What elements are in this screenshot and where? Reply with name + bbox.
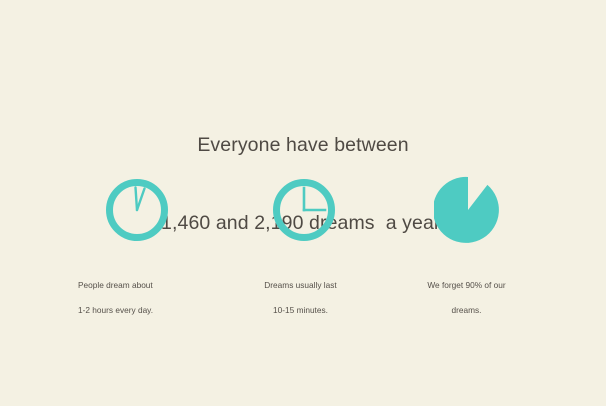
pie-chart-icon-ninety-percent <box>384 170 549 248</box>
stat-caption-line-2: 1-2 hours every day. <box>78 305 153 315</box>
stat-caption-hours-per-day: People dream about 1-2 hours every day. <box>78 266 217 316</box>
stat-item-forgotten-dreams: We forget 90% of our dreams. <box>384 170 549 310</box>
page-title-line-1: Everyone have between <box>0 132 606 158</box>
stat-caption-line-2: dreams. <box>452 305 482 315</box>
clock-icon-one-two-oclock <box>52 170 217 248</box>
stats-row: People dream about 1-2 hours every day. … <box>0 170 606 310</box>
stat-caption-line-2: 10-15 minutes. <box>273 305 328 315</box>
stat-item-dream-duration: Dreams usually last 10-15 minutes. <box>218 170 383 310</box>
stat-caption-forgotten-dreams: We forget 90% of our dreams. <box>384 266 549 316</box>
stat-caption-line-1: We forget 90% of our <box>427 280 505 290</box>
stat-caption-line-1: People dream about <box>78 280 153 290</box>
stat-caption-dream-duration: Dreams usually last 10-15 minutes. <box>218 266 383 316</box>
clock-icon-three-oclock <box>218 170 383 248</box>
stat-item-hours-per-day: People dream about 1-2 hours every day. <box>52 170 217 310</box>
stat-caption-line-1: Dreams usually last <box>264 280 336 290</box>
infographic-canvas: Everyone have between 1,460 and 2,190 dr… <box>0 0 606 406</box>
